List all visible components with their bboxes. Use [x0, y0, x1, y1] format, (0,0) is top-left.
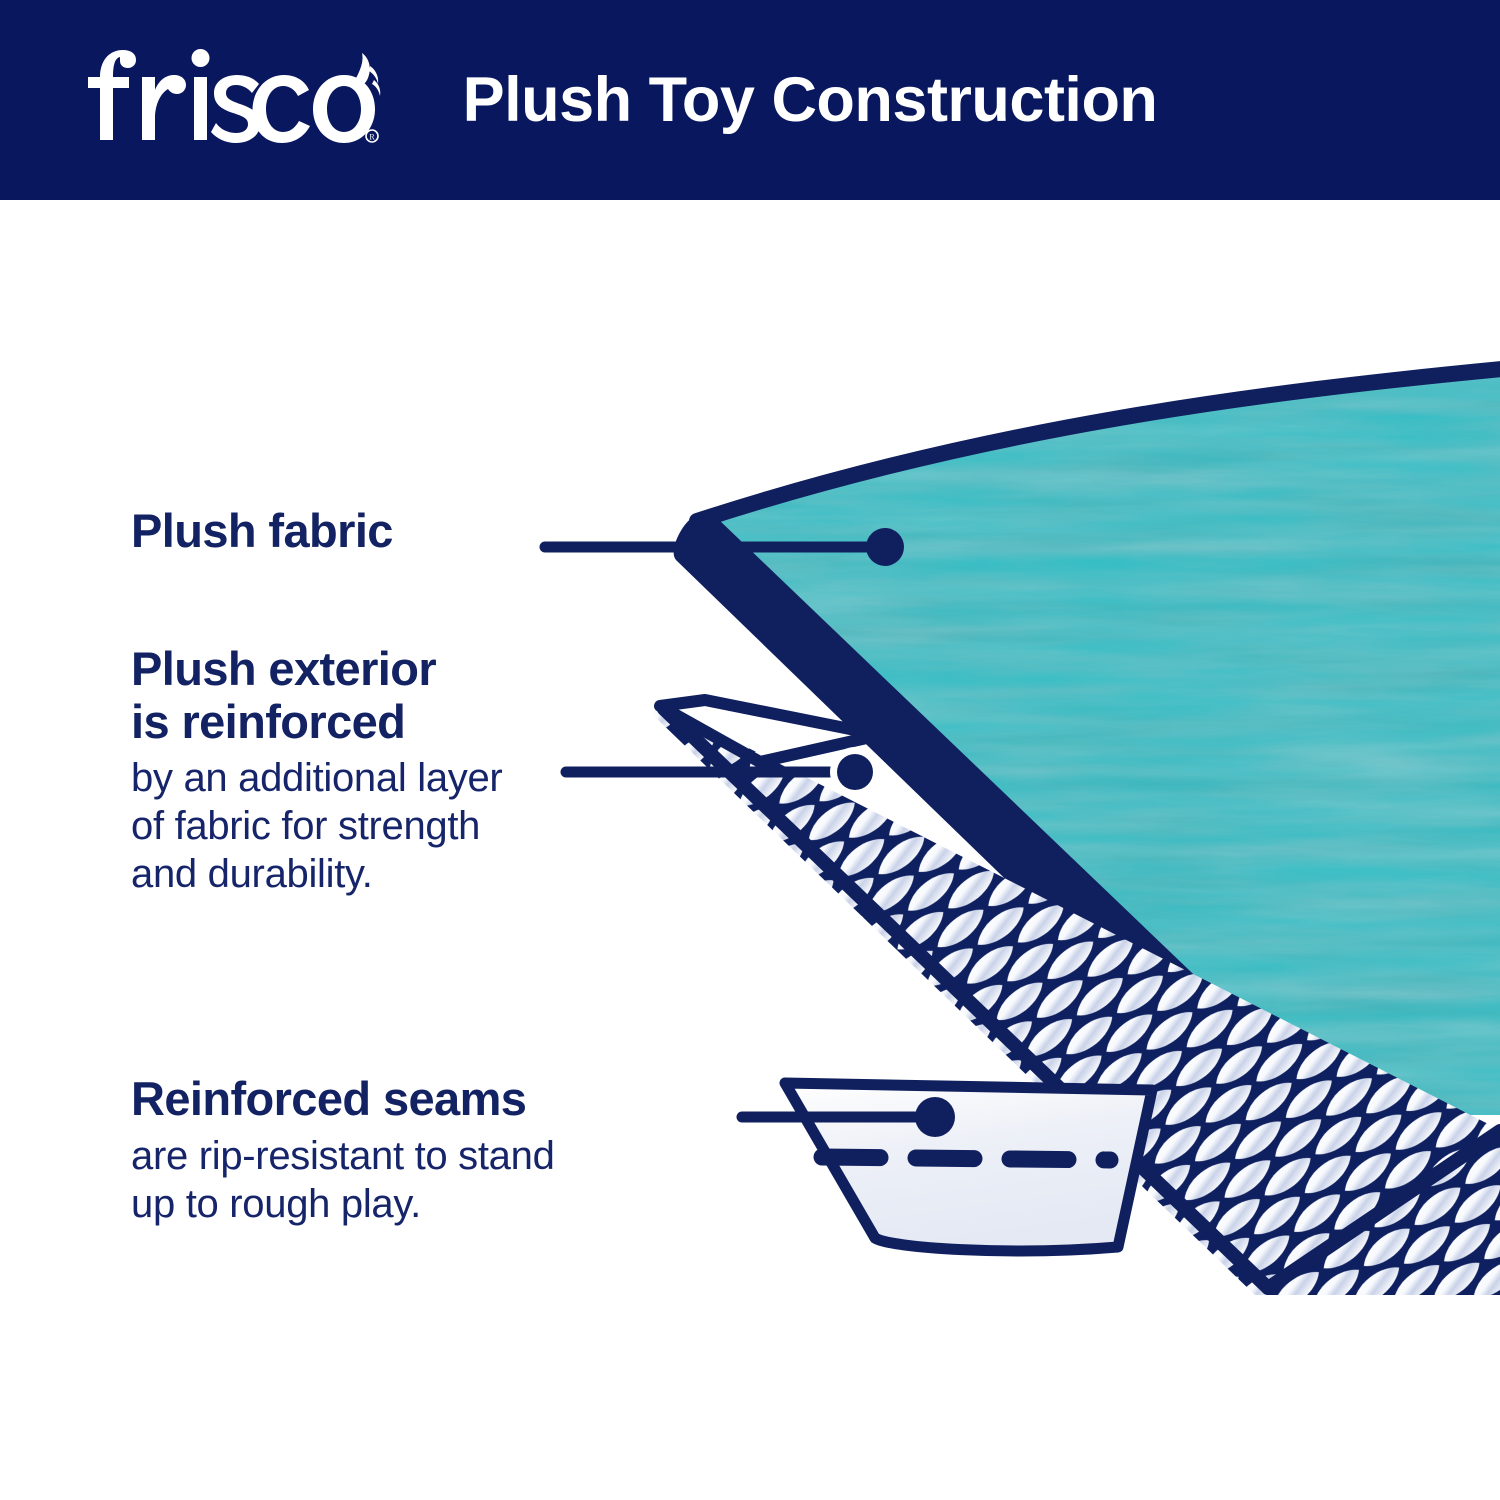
- dot-plush-exterior-ring: [830, 747, 880, 797]
- infographic-page: R Plush Toy Construction: [0, 0, 1500, 1500]
- callout-label-column: Plush fabric Plush exterior is reinforce…: [0, 200, 800, 1500]
- callout-plush-exterior-body-line1: by an additional layer: [131, 754, 502, 802]
- callout-plush-exterior-heading-line2: is reinforced: [131, 696, 502, 749]
- page-title: Plush Toy Construction: [0, 0, 1500, 200]
- seam-flap: [782, 1082, 1258, 1280]
- callout-plush-exterior-body-line3: and durability.: [131, 850, 502, 898]
- callout-plush-fabric-heading: Plush fabric: [131, 505, 393, 558]
- plush-fabric-outline: [697, 369, 1500, 900]
- dot-plush-fabric: [866, 528, 904, 566]
- stitch-dashes: [822, 1157, 1110, 1160]
- callout-dots: [830, 528, 955, 1137]
- dot-reinforced-seams: [915, 1097, 955, 1137]
- callout-plush-exterior-heading-line1: Plush exterior: [131, 643, 502, 696]
- callout-reinforced-seams: Reinforced seams are rip-resistant to st…: [131, 1073, 555, 1228]
- plush-fabric-panel: [700, 372, 1500, 1115]
- callout-reinforced-seams-body-line1: are rip-resistant to stand: [131, 1132, 555, 1180]
- dot-plush-exterior: [837, 754, 873, 790]
- callout-plush-fabric: Plush fabric: [131, 505, 393, 558]
- callout-plush-exterior-body-line2: of fabric for strength: [131, 802, 502, 850]
- callout-plush-exterior: Plush exterior is reinforced by an addit…: [131, 643, 502, 898]
- page-header: R Plush Toy Construction: [0, 0, 1500, 200]
- callout-reinforced-seams-heading: Reinforced seams: [131, 1073, 555, 1126]
- callout-reinforced-seams-body-line2: up to rough play.: [131, 1180, 555, 1228]
